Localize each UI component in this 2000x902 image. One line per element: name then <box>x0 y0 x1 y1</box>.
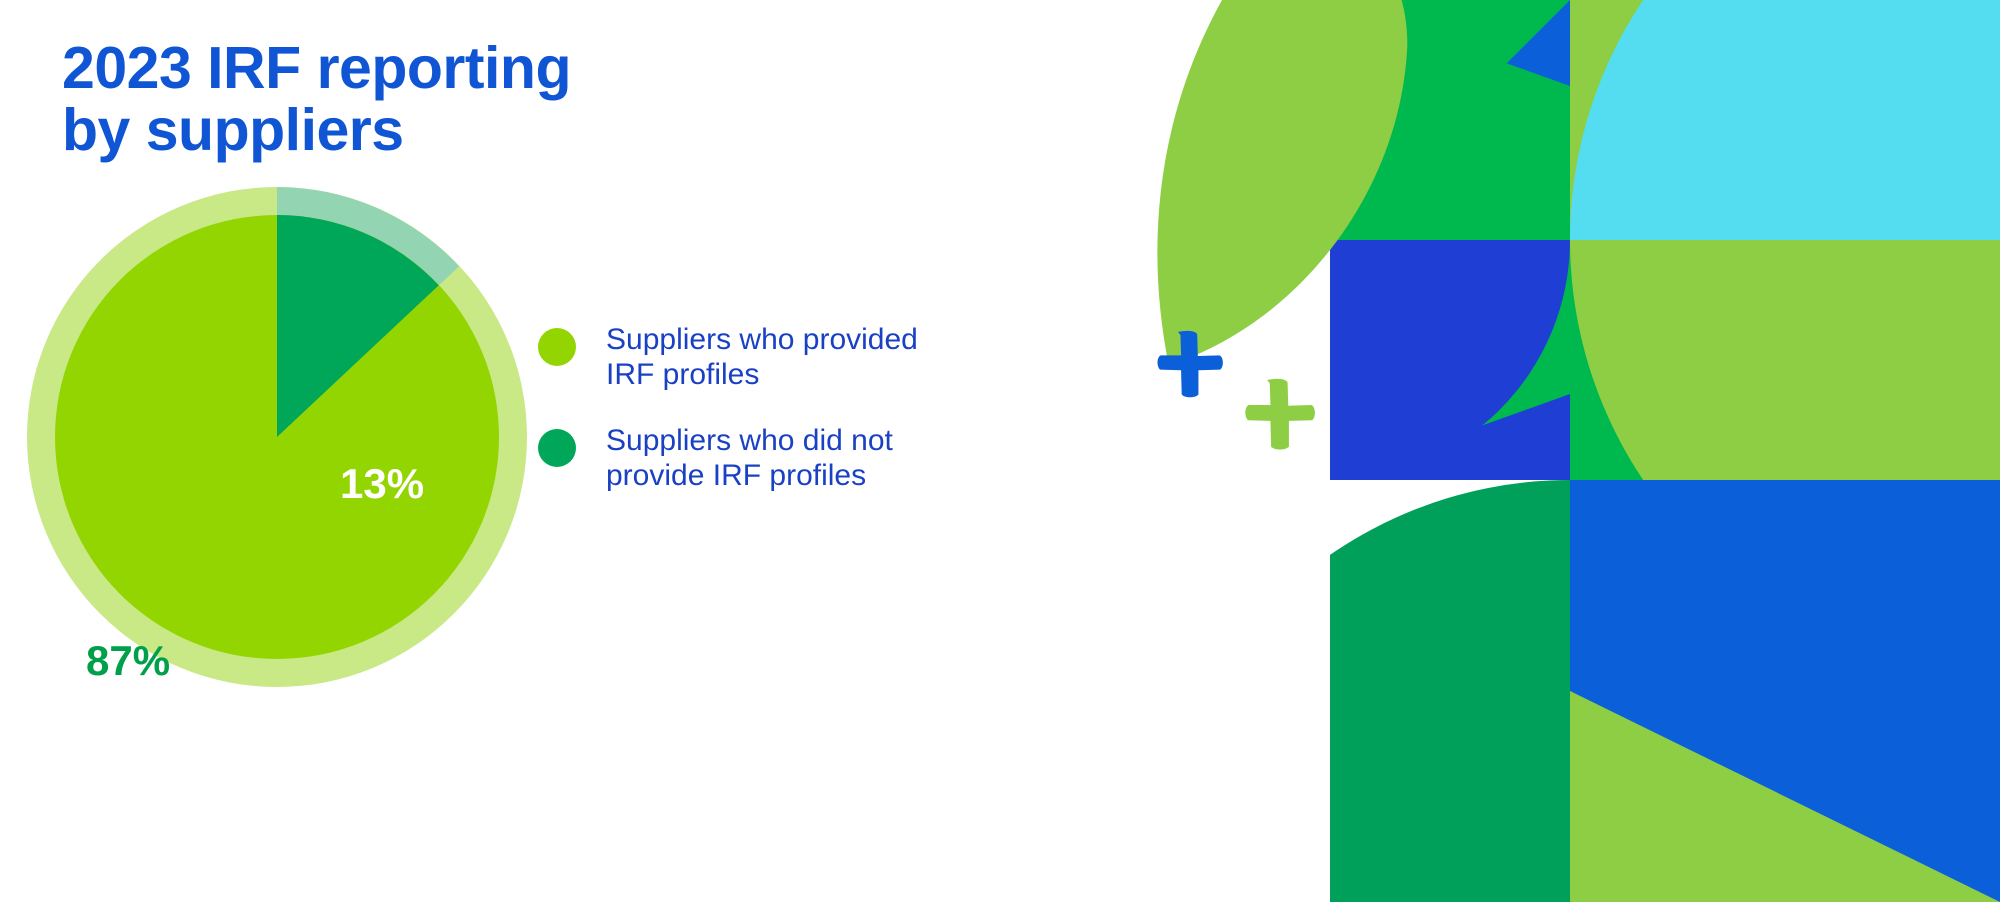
decorative-artwork-svg <box>1090 0 2000 902</box>
pie-chart: 13% 87% <box>22 182 532 692</box>
legend-item-not-provided[interactable]: Suppliers who did not provide IRF profil… <box>538 423 978 494</box>
legend-label-not-provided: Suppliers who did not provide IRF profil… <box>606 423 893 494</box>
legend-swatch-icon-not-provided <box>538 429 576 467</box>
legend-item-provided[interactable]: Suppliers who provided IRF profiles <box>538 322 978 393</box>
tile-green-quarter <box>1570 480 2000 691</box>
legend-swatch-icon-provided <box>538 328 576 366</box>
tile-lower-right <box>1570 691 2000 902</box>
plus-icon-green <box>1245 379 1315 450</box>
chart-legend: Suppliers who provided IRF profiles Supp… <box>538 322 978 524</box>
decorative-artwork <box>1090 0 2000 902</box>
legend-label-provided: Suppliers who provided IRF profiles <box>606 322 918 393</box>
pie-chart-svg <box>22 182 532 692</box>
page-title: 2023 IRF reporting by suppliers <box>62 38 762 162</box>
infographic-canvas: 2023 IRF reporting by suppliers 13% 87% … <box>0 0 2000 902</box>
